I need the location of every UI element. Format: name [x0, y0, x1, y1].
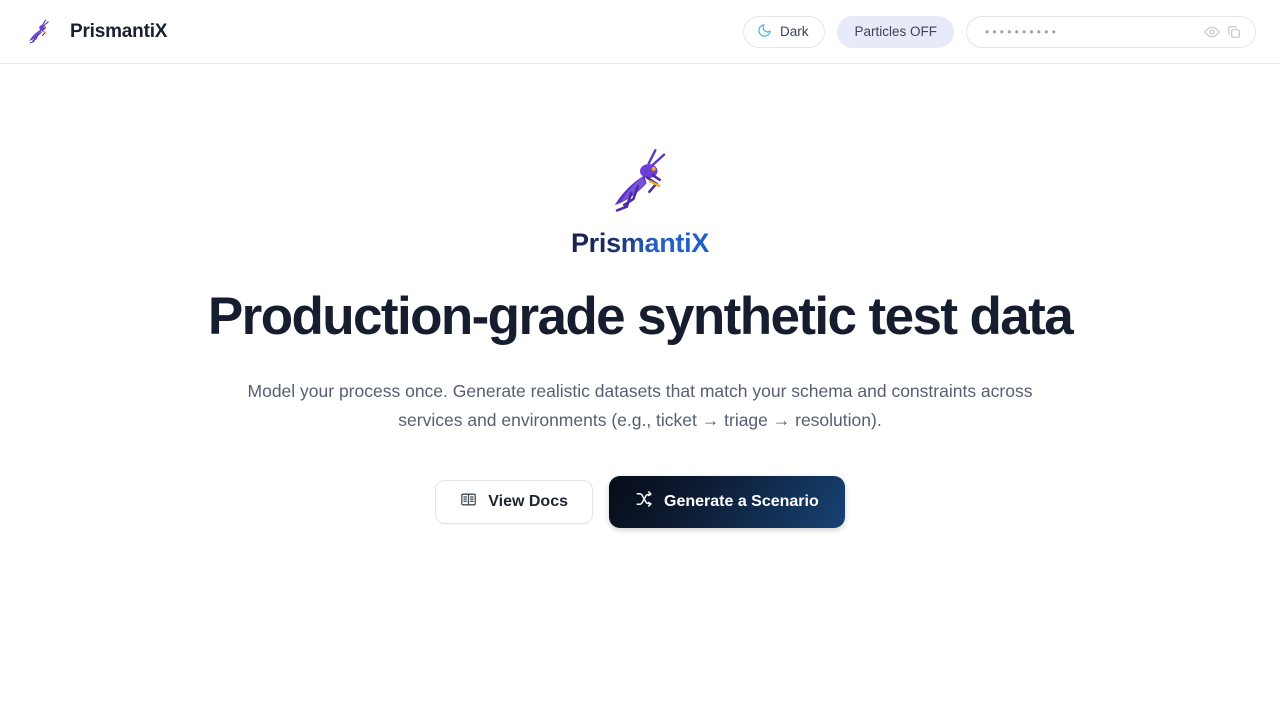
app-root: PrismantiX Dark Particles OFF •••••••••• — [0, 0, 1280, 720]
theme-toggle-label: Dark — [780, 24, 809, 39]
brand-name: PrismantiX — [70, 21, 167, 43]
moon-icon — [757, 23, 772, 41]
mantis-icon — [22, 15, 56, 49]
mantis-icon — [605, 144, 675, 220]
app-header: PrismantiX Dark Particles OFF •••••••••• — [0, 0, 1280, 64]
api-key-field[interactable]: •••••••••• — [966, 16, 1256, 48]
cta-row: View Docs Generate a Scenario — [435, 476, 845, 528]
shuffle-icon — [635, 490, 653, 513]
hero-wordmark: PrismantiX — [571, 228, 709, 259]
copy-icon[interactable] — [1223, 21, 1245, 43]
api-key-value: •••••••••• — [985, 25, 1201, 39]
brand[interactable]: PrismantiX — [22, 15, 167, 49]
hero-section: PrismantiX Production-grade synthetic te… — [0, 64, 1280, 720]
book-docs-icon — [460, 491, 477, 513]
generate-scenario-button[interactable]: Generate a Scenario — [609, 476, 845, 528]
theme-toggle-button[interactable]: Dark — [743, 16, 826, 48]
hero-subtitle: Model your process once. Generate realis… — [245, 377, 1035, 436]
header-controls: Dark Particles OFF •••••••••• — [743, 16, 1256, 48]
particles-toggle-button[interactable]: Particles OFF — [837, 16, 954, 48]
eye-icon[interactable] — [1201, 21, 1223, 43]
page-title: Production-grade synthetic test data — [190, 287, 1090, 347]
particles-toggle-label: Particles OFF — [854, 24, 937, 39]
view-docs-button[interactable]: View Docs — [435, 480, 593, 524]
generate-scenario-label: Generate a Scenario — [664, 493, 819, 511]
view-docs-label: View Docs — [488, 493, 568, 511]
